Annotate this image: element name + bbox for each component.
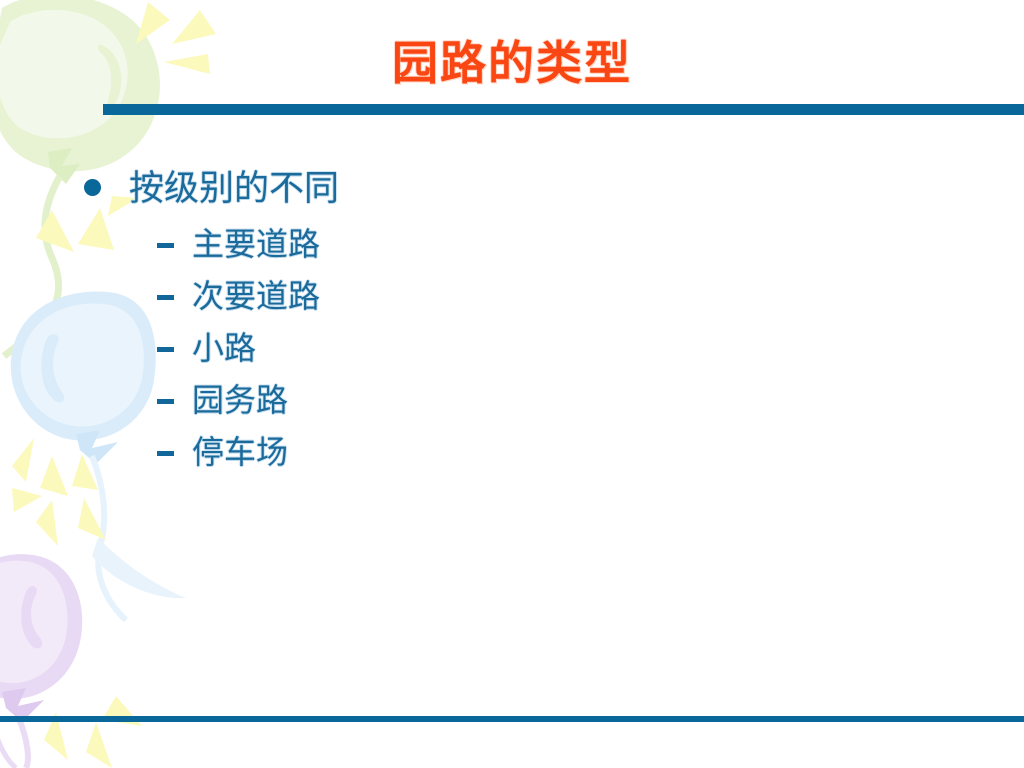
dash-bullet-icon [157,295,174,300]
dash-bullet-icon [157,347,174,352]
list-item[interactable]: 小路 [157,324,784,373]
footer-divider-rule [0,716,1024,722]
slide-canvas: 园路的类型 按级别的不同 主要道路 次要道路 小路 园务路 停车场 [0,0,1024,768]
dash-bullet-icon [157,451,174,456]
filled-circle-bullet-icon [84,179,101,196]
blue-swoosh-decoration [92,538,186,598]
list-item-label: 园务路 [192,376,288,425]
list-item[interactable]: 停车场 [157,428,784,477]
list-item[interactable]: 园务路 [157,376,784,425]
list-item-label: 停车场 [192,428,288,477]
list-item[interactable]: 主要道路 [157,220,784,269]
title-divider-rule [103,104,1024,115]
list-item-label: 次要道路 [192,272,320,321]
purple-balloon-decoration [0,554,82,768]
list-item-label: 小路 [192,324,256,373]
dash-bullet-icon [157,243,174,248]
list-item-label: 按级别的不同 [129,166,339,212]
list-item[interactable]: 次要道路 [157,272,784,321]
yellow-rays-bottom [44,696,142,768]
slide-title-text: 园路的类型 [392,34,632,92]
list-item[interactable]: 按级别的不同 [84,166,784,212]
content-bullet-list: 按级别的不同 主要道路 次要道路 小路 园务路 停车场 [84,166,784,480]
list-item-label: 主要道路 [192,220,320,269]
dash-bullet-icon [157,399,174,404]
slide-title: 园路的类型 [0,34,1024,96]
